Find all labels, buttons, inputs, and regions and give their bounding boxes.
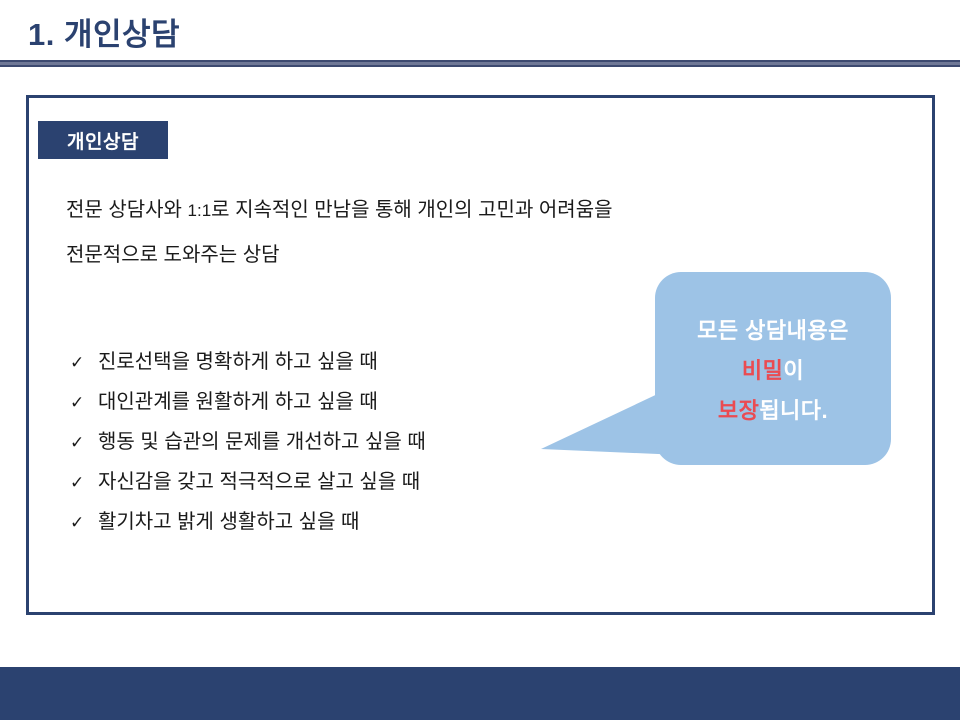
title-divider-rule [0,60,960,67]
speech-bubble-line-3: 보장됩니다. [718,391,828,431]
speech-bubble-line-2-rest: 이 [783,358,804,383]
speech-bubble-line-3-highlight: 보장 [718,398,759,423]
check-icon: ✓ [70,474,98,491]
description-line-1-part-a: 전문 상담사와 [66,199,188,221]
list-item: ✓ 진로선택을 명확하게 하고 싶을 때 [70,345,590,385]
check-icon: ✓ [70,514,98,531]
section-badge: 개인상담 [38,121,168,159]
speech-bubble-line-3-rest: 됩니다. [759,398,828,423]
checklist: ✓ 진로선택을 명확하게 하고 싶을 때 ✓ 대인관계를 원활하게 하고 싶을 … [70,345,590,545]
list-item-label: 진로선택을 명확하게 하고 싶을 때 [98,345,378,374]
list-item: ✓ 대인관계를 원활하게 하고 싶을 때 [70,385,590,425]
list-item: ✓ 자신감을 갖고 적극적으로 살고 싶을 때 [70,465,590,505]
list-item-label: 활기차고 밝게 생활하고 싶을 때 [98,505,359,534]
description-line-2: 전문적으로 도와주는 상담 [66,233,826,277]
slide-canvas: 1. 개인상담 개인상담 전문 상담사와 1:1로 지속적인 만남을 통해 개인… [0,0,960,720]
speech-bubble: 모든 상담내용은 비밀이 보장됩니다. [655,272,891,465]
speech-bubble-line-1: 모든 상담내용은 [697,311,849,351]
description-ratio-value: 1:1 [188,201,212,220]
page-title: 1. 개인상담 [28,18,180,52]
list-item: ✓ 활기차고 밝게 생활하고 싶을 때 [70,505,590,545]
check-icon: ✓ [70,394,98,411]
description-line-1: 전문 상담사와 1:1로 지속적인 만남을 통해 개인의 고민과 어려움을 [66,188,826,233]
speech-bubble-line-2-highlight: 비밀 [742,358,783,383]
list-item-label: 자신감을 갖고 적극적으로 살고 싶을 때 [98,465,420,494]
description-text: 전문 상담사와 1:1로 지속적인 만남을 통해 개인의 고민과 어려움을 전문… [66,188,826,277]
check-icon: ✓ [70,434,98,451]
footer-bar [0,667,960,720]
list-item-label: 행동 및 습관의 문제를 개선하고 싶을 때 [98,425,426,454]
list-item-label: 대인관계를 원활하게 하고 싶을 때 [98,385,378,414]
speech-bubble-line-2: 비밀이 [742,351,804,391]
check-icon: ✓ [70,354,98,371]
list-item: ✓ 행동 및 습관의 문제를 개선하고 싶을 때 [70,425,590,465]
description-line-1-part-b: 로 지속적인 만남을 통해 개인의 고민과 어려움을 [211,199,612,221]
